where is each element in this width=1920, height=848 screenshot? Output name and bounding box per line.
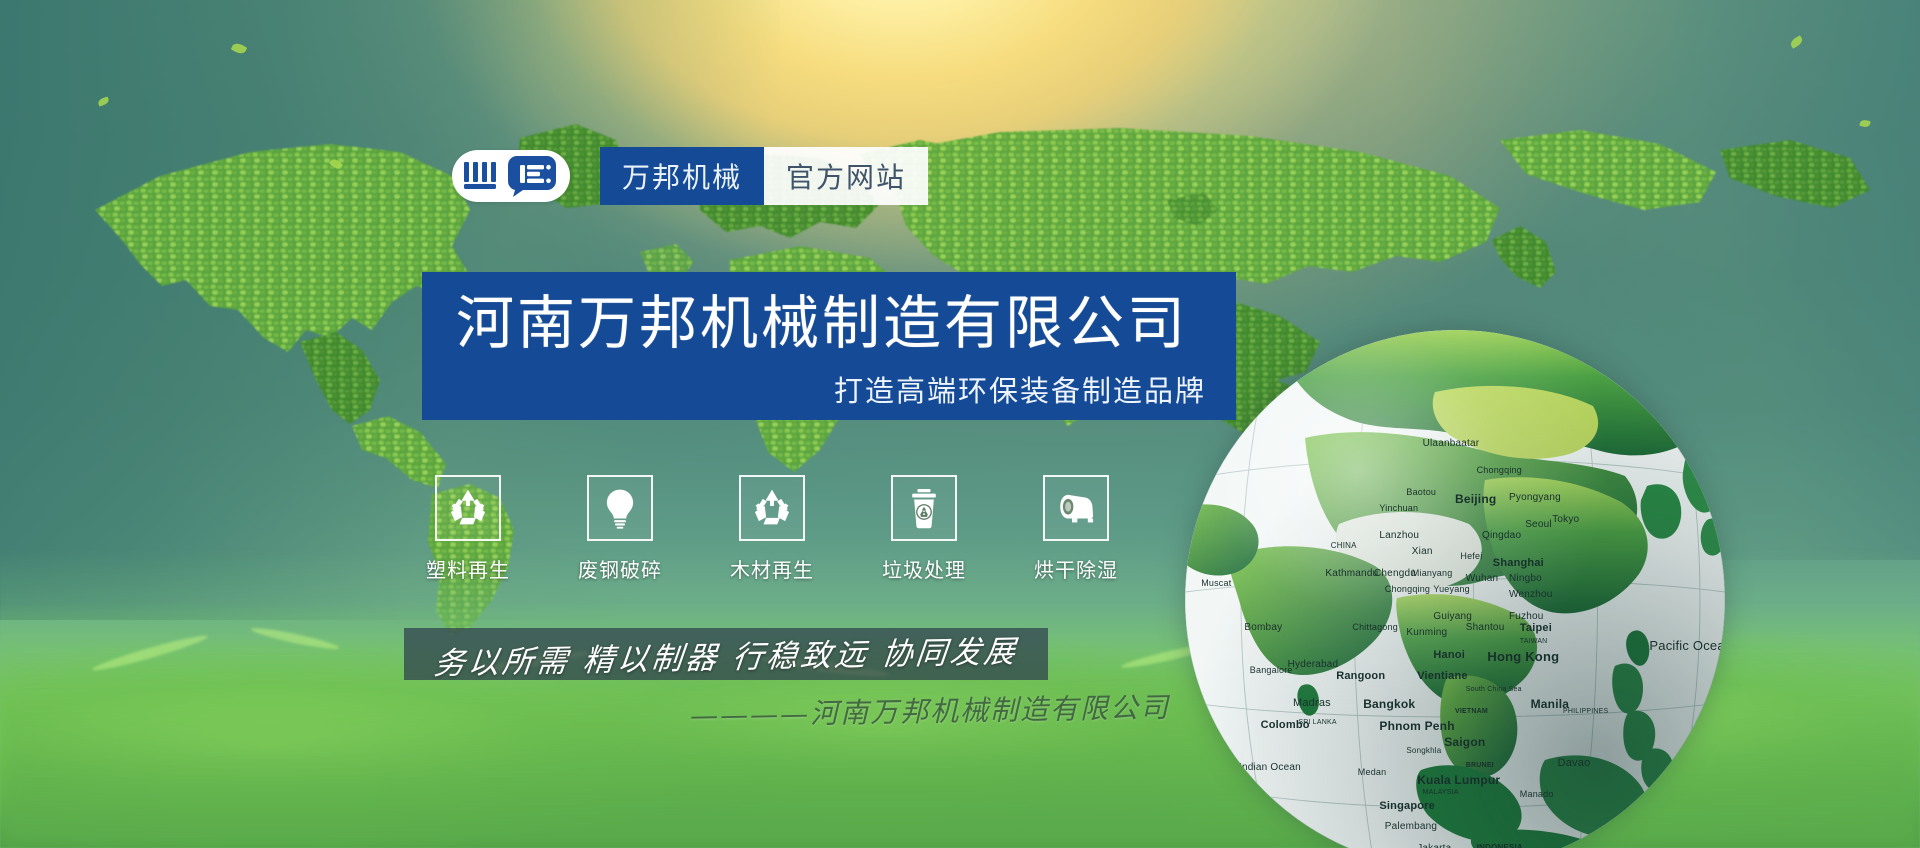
service-icon-box <box>435 475 501 541</box>
service-icon-box <box>739 475 805 541</box>
company-logo[interactable] <box>452 150 570 202</box>
slogan-signature: ————河南万邦机械制造有限公司 <box>690 686 1171 734</box>
globe-sphere: UlaanbaatarBeijingBaotouYinchuanChongqin… <box>1185 330 1725 848</box>
service-icon-box <box>891 475 957 541</box>
site-tabs: 万邦机械 官方网站 <box>600 147 928 205</box>
trash-bin-recycle-icon <box>903 487 945 529</box>
recycle-icon <box>751 487 793 529</box>
service-label: 废钢破碎 <box>578 554 662 583</box>
company-tagline: 打造高端环保装备制造品牌 <box>834 368 1206 410</box>
company-title-panel: 河南万邦机械制造有限公司 打造高端环保装备制造品牌 <box>422 272 1236 420</box>
service-icon-row: 塑料再生 废钢破碎 <box>418 475 1126 583</box>
service-item-drying-dehumidifying[interactable]: 烘干除湿 <box>1026 475 1126 583</box>
service-item-plastic-recycling[interactable]: 塑料再生 <box>418 475 518 583</box>
service-label: 木材再生 <box>730 554 814 583</box>
company-name-heading: 河南万邦机械制造有限公司 <box>456 288 1188 358</box>
service-icon-box <box>587 475 653 541</box>
tab-official-website[interactable]: 官方网站 <box>764 147 928 205</box>
tab-wanbang-machinery[interactable]: 万邦机械 <box>600 147 764 205</box>
globe-graphic: UlaanbaatarBeijingBaotouYinchuanChongqin… <box>1185 330 1725 848</box>
logo-b-speech-bubble-icon <box>505 154 557 198</box>
service-item-wood-recycling[interactable]: 木材再生 <box>722 475 822 583</box>
lightbulb-icon <box>599 487 641 529</box>
service-label: 烘干除湿 <box>1034 554 1118 583</box>
brand-row: 万邦机械 官方网站 <box>452 143 928 209</box>
service-item-scrap-steel-crushing[interactable]: 废钢破碎 <box>570 475 670 583</box>
recycle-icon <box>447 487 489 529</box>
service-label: 垃圾处理 <box>882 554 966 583</box>
service-icon-box <box>1043 475 1109 541</box>
slogan-ribbon: 务以所需 精以制器 行稳致远 协同发展 <box>404 628 1048 680</box>
service-item-waste-treatment[interactable]: 垃圾处理 <box>874 475 974 583</box>
service-label: 塑料再生 <box>426 554 510 583</box>
hero-banner: UlaanbaatarBeijingBaotouYinchuanChongqin… <box>0 0 1920 848</box>
logo-w-mark-icon <box>461 159 505 193</box>
slogan-text: 务以所需 精以制器 行稳致远 协同发展 <box>432 625 1021 682</box>
dryer-machine-icon <box>1055 487 1097 529</box>
